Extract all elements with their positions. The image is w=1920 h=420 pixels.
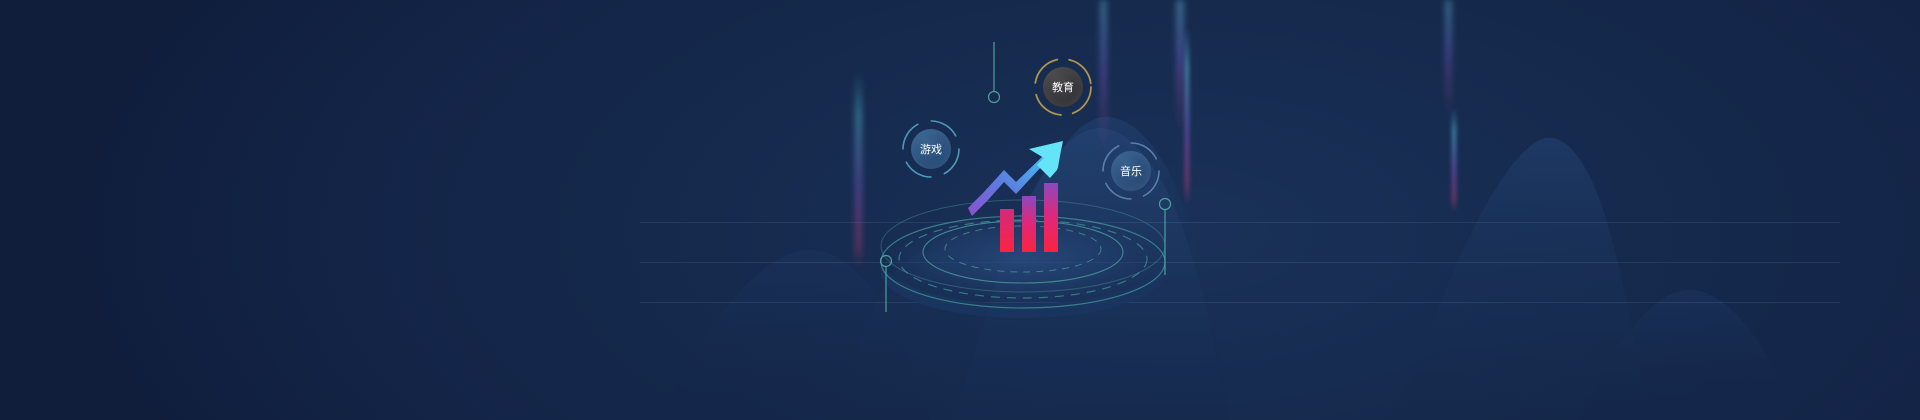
- marker-left: [881, 256, 892, 313]
- marker-right: [1160, 199, 1171, 276]
- category-badge-music[interactable]: 音乐: [1100, 140, 1162, 202]
- marker-top: [989, 42, 1000, 103]
- badge-label-game: 游戏: [911, 129, 951, 169]
- banner-canvas: 游戏 教育 音乐: [0, 0, 1920, 420]
- badge-label-education: 教育: [1043, 67, 1083, 107]
- category-badge-game[interactable]: 游戏: [900, 118, 962, 180]
- category-badge-education[interactable]: 教育: [1032, 56, 1094, 118]
- badge-label-music: 音乐: [1111, 151, 1151, 191]
- node-markers: [0, 0, 1920, 420]
